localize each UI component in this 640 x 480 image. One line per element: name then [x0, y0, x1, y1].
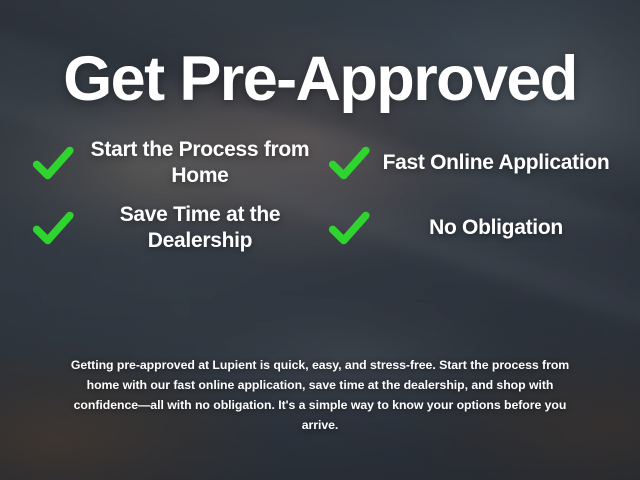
feature-item-no-obligation: No Obligation — [322, 202, 614, 253]
feature-item-save-time-at-the-dealership: Save Time at the Dealership — [26, 202, 318, 253]
feature-item-start-the-process-from-home: Start the Process from Home — [26, 137, 318, 188]
check-icon — [30, 205, 76, 251]
feature-label: Start the Process from Home — [86, 137, 314, 188]
feature-label: Fast Online Application — [382, 150, 610, 176]
pre-approval-banner: Get Pre-Approved Start the Process from … — [0, 0, 640, 480]
description-paragraph: Getting pre-approved at Lupient is quick… — [26, 356, 614, 436]
feature-label: Save Time at the Dealership — [86, 202, 314, 253]
feature-list: Start the Process from Home Fast Online … — [26, 137, 614, 253]
check-icon — [326, 205, 372, 251]
banner-content: Get Pre-Approved Start the Process from … — [0, 0, 640, 480]
page-title: Get Pre-Approved — [26, 0, 614, 111]
check-icon — [326, 140, 372, 186]
feature-label: No Obligation — [382, 215, 610, 241]
check-icon — [30, 140, 76, 186]
feature-item-fast-online-application: Fast Online Application — [322, 137, 614, 188]
